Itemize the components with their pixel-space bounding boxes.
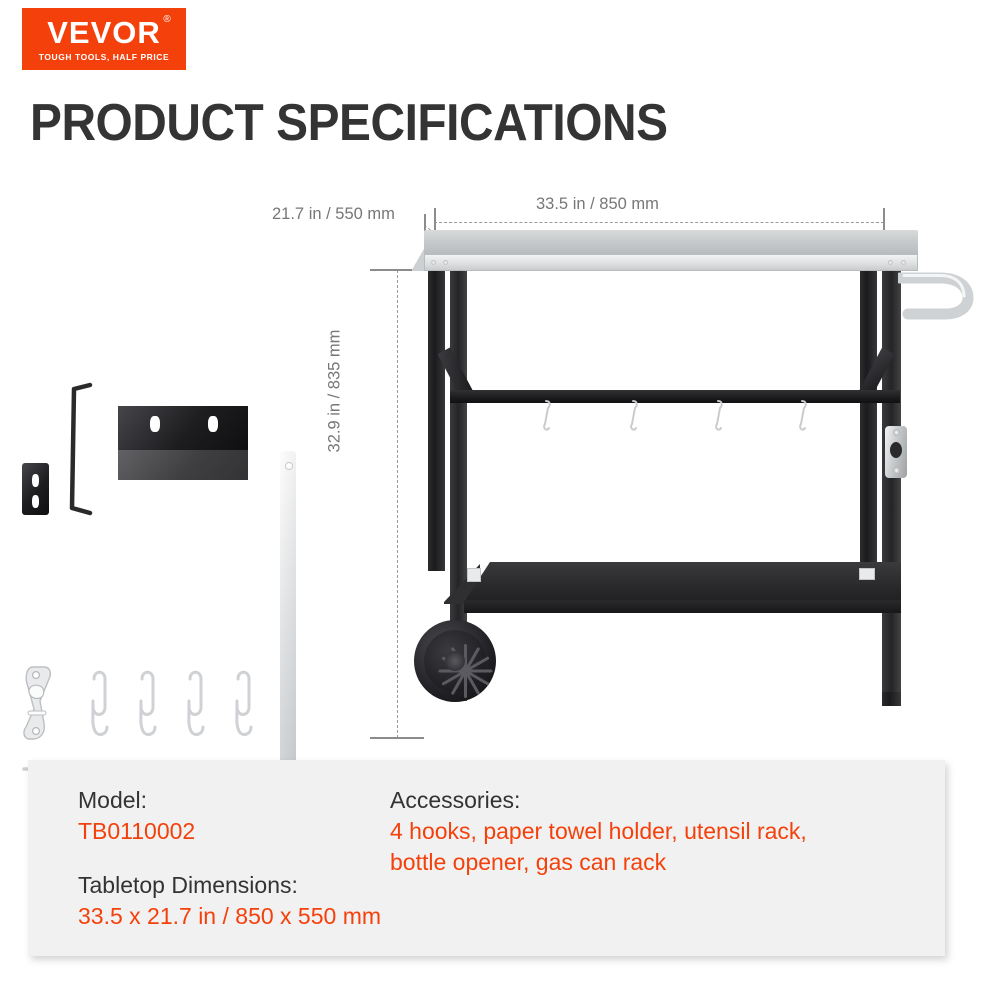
shelf-label-left xyxy=(467,568,481,582)
tabletop-dimensions-value: 33.5 x 21.7 in / 850 x 550 mm xyxy=(78,901,381,932)
cart-handle[interactable] xyxy=(898,272,974,337)
s-hook-icon xyxy=(796,400,809,444)
rack-bar-hole-icon xyxy=(285,462,293,470)
bottle-opener-mounted xyxy=(885,426,907,478)
bracket-slot-icon xyxy=(32,474,39,487)
screw-icon xyxy=(893,467,900,474)
tabletop-surface xyxy=(424,230,918,256)
wheel-hub xyxy=(445,651,465,671)
cart-leg-rear-left xyxy=(428,271,445,571)
model-block: Model: TB0110002 xyxy=(78,785,195,847)
hex-rod-part xyxy=(60,380,106,525)
rivet-icon xyxy=(443,260,448,265)
tabletop-edge xyxy=(424,254,918,271)
brand-name-text: VEVOR xyxy=(47,15,161,50)
shelf-label-right xyxy=(859,568,875,580)
registered-mark-icon: ® xyxy=(163,15,171,25)
utensil-rack-bar xyxy=(450,390,900,403)
accessories-heading: Accessories: xyxy=(390,785,807,816)
screw-icon xyxy=(893,429,900,436)
s-hook-part xyxy=(229,667,255,745)
s-hook-icon xyxy=(712,400,725,444)
width-dimension-label: 33.5 in / 850 mm xyxy=(536,195,659,214)
depth-dimension-label: 21.7 in / 550 mm xyxy=(272,205,395,224)
product-diagram: 33.5 in / 850 mm 21.7 in / 550 mm 32.9 i… xyxy=(0,175,990,755)
cart-foot-right xyxy=(882,692,901,706)
rivet-icon xyxy=(901,260,906,265)
vevor-logo: VEVOR® TOUGH TOOLS, HALF PRICE xyxy=(22,8,186,70)
s-hook-icon xyxy=(627,400,640,444)
lower-shelf-surface xyxy=(464,562,901,602)
model-value: TB0110002 xyxy=(78,816,195,847)
rack-slot-icon xyxy=(208,416,218,432)
bracket-slot-icon xyxy=(32,495,39,508)
model-heading: Model: xyxy=(78,785,195,816)
accessories-value-line-1: 4 hooks, paper towel holder, utensil rac… xyxy=(390,816,807,847)
tabletop-dimensions-heading: Tabletop Dimensions: xyxy=(78,870,381,901)
gas-can-rack-lip xyxy=(118,450,248,480)
cart-leg-rear-right xyxy=(860,271,877,571)
rivet-icon xyxy=(888,260,893,265)
rivet-icon xyxy=(431,260,436,265)
s-hook-icon xyxy=(540,400,553,444)
height-dimension-line xyxy=(397,270,398,738)
width-dimension-line xyxy=(434,222,884,223)
accessories-value-line-2: bottle opener, gas can rack xyxy=(390,847,807,878)
lower-shelf-edge xyxy=(464,600,901,613)
specifications-panel: Model: TB0110002 Tabletop Dimensions: 33… xyxy=(28,760,945,956)
s-hook-part xyxy=(181,667,207,745)
opener-hole-icon xyxy=(890,442,902,458)
rack-slot-icon xyxy=(150,416,160,432)
brand-tagline: TOUGH TOOLS, HALF PRICE xyxy=(39,52,169,62)
page-title: PRODUCT SPECIFICATIONS xyxy=(30,97,668,149)
gas-can-rack-back xyxy=(118,406,248,450)
product-spec-sheet: VEVOR® TOUGH TOOLS, HALF PRICE PRODUCT S… xyxy=(0,0,990,988)
grill-cart-illustration xyxy=(404,230,964,740)
accessories-block: Accessories: 4 hooks, paper towel holder… xyxy=(390,785,807,878)
s-hook-part xyxy=(133,667,159,745)
tabletop-dimensions-block: Tabletop Dimensions: 33.5 x 21.7 in / 85… xyxy=(78,870,381,932)
cart-wheel xyxy=(414,620,496,702)
bottle-opener-part xyxy=(20,665,54,748)
s-hook-part xyxy=(85,667,111,745)
brand-name: VEVOR® xyxy=(47,17,161,48)
